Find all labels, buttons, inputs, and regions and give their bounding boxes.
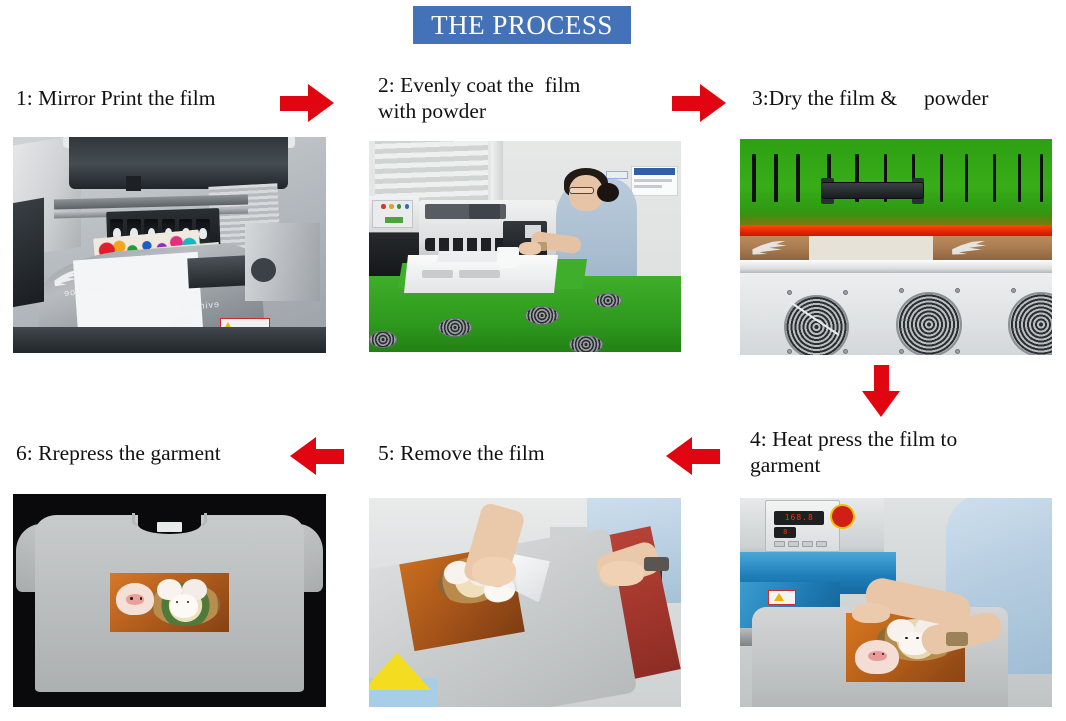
table-fan-icon	[438, 318, 472, 337]
dtf-roll-printer-photo: evirrvoe evirrvoe	[13, 137, 326, 353]
arrow-step2-to-step3	[672, 84, 730, 123]
table-fan-icon	[369, 331, 397, 348]
table-fan-icon	[525, 306, 559, 325]
press-temperature-value: 168.8	[785, 513, 814, 522]
arrow-head	[862, 391, 900, 417]
table-fan-icon	[594, 293, 622, 308]
arrow-step5-to-step6	[286, 437, 344, 476]
drying-oven-photo: 请勿吸入，危险！ 注意勿吸入，危	[740, 139, 1052, 355]
arrow-head	[290, 437, 316, 475]
press-button[interactable]	[816, 541, 827, 547]
arrow-step4-to-step5	[662, 437, 720, 476]
oven-fan-icon	[896, 292, 962, 355]
powder-coating-photo	[369, 141, 681, 352]
press-temperature-display: 168.8	[774, 511, 824, 526]
finished-garment-photo	[13, 494, 326, 707]
press-button[interactable]	[774, 541, 785, 547]
arrow-head	[666, 437, 692, 475]
step-1-caption: 1: Mirror Print the film	[16, 85, 266, 111]
press-button[interactable]	[802, 541, 813, 547]
peel-film-photo	[369, 498, 681, 707]
press-timer-value: 8	[783, 528, 787, 536]
step-6-caption: 6: Rrepress the garment	[16, 440, 274, 466]
heat-press-photo: 168.8 8	[740, 498, 1052, 707]
press-timer-display: 8	[774, 527, 796, 537]
arrow-step3-to-step4	[862, 365, 901, 417]
press-button[interactable]	[788, 541, 799, 547]
page-title-banner: THE PROCESS	[413, 6, 631, 44]
warning-triangle-icon	[774, 593, 784, 601]
arrow-head	[700, 84, 726, 122]
step-5-caption: 5: Remove the film	[378, 440, 618, 466]
step-4-caption: 4: Heat press the film to garment	[750, 426, 1040, 478]
table-fan-icon	[569, 335, 603, 352]
oven-door-handle	[821, 182, 924, 199]
arrow-shaft	[312, 449, 344, 464]
process-infographic: THE PROCESS 1: Mirror Print the film 2: …	[0, 0, 1066, 721]
page-title: THE PROCESS	[431, 12, 613, 39]
step-3-caption: 3:Dry the film & powder	[752, 85, 1057, 111]
step-2-caption: 2: Evenly coat the film with powder	[378, 72, 643, 124]
arrow-shaft	[688, 449, 720, 464]
arrow-step1-to-step2	[280, 84, 338, 123]
arrow-head	[308, 84, 334, 122]
